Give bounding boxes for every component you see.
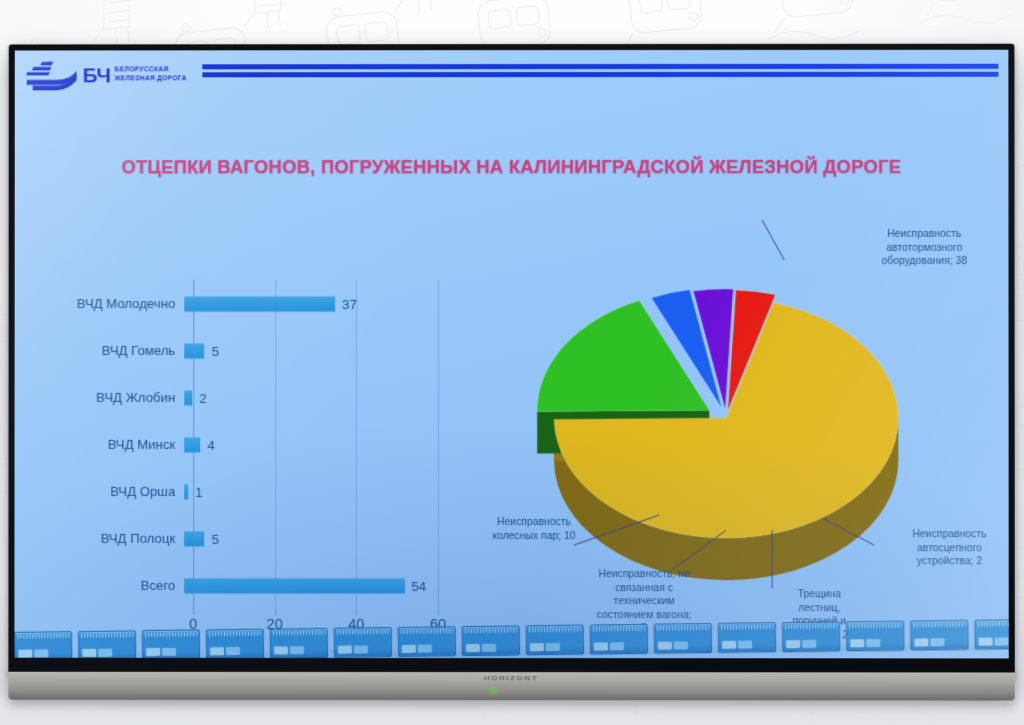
pie-slice-label: Неисправность автосцепного устройства; 2 [874, 528, 1008, 569]
bar-value-label: 5 [212, 343, 219, 358]
slide-title: ОТЦЕПКИ ВАГОНОВ, ПОГРУЖЕННЫХ НА КАЛИНИНГ… [15, 156, 1009, 178]
bar-value-label: 54 [411, 578, 426, 593]
bar-category-label: ВЧД Минск [32, 437, 184, 452]
monitor-bottom-bezel: HORIZONT [8, 672, 1014, 701]
bar [184, 484, 188, 499]
pie-chart: Неисправность автотормозного оборудовани… [454, 200, 1009, 659]
bar-category-label: Всего [32, 578, 184, 593]
taskbar-window-thumbnail[interactable] [782, 621, 840, 652]
pie-chart-graphic [454, 200, 1009, 659]
bar [184, 531, 204, 546]
taskbar-window-thumbnail[interactable] [590, 624, 648, 655]
bar-category-label: ВЧД Гомель [33, 343, 185, 358]
bar [184, 578, 404, 593]
bar-value-label: 37 [342, 296, 357, 311]
bar-chart: 0204060 ВЧД Молодечно37ВЧД Гомель5ВЧД Жл… [32, 280, 472, 640]
taskbar-window-thumbnail[interactable] [846, 621, 905, 652]
bar-category-label: ВЧД Жлобин [33, 390, 185, 405]
taskbar-window-thumbnail[interactable] [334, 627, 392, 658]
taskbar-window-thumbnail[interactable] [398, 626, 456, 657]
presentation-slide: БЧ БЕЛОРУССКАЯ ЖЕЛЕЗНАЯ ДОРОГА ОТЦЕПКИ В… [14, 50, 1008, 659]
taskbar-window-thumbnail[interactable] [654, 623, 712, 654]
bar-value-label: 2 [199, 390, 206, 405]
bar-track: 4 [184, 421, 472, 468]
taskbar-window-thumbnail[interactable] [270, 628, 328, 659]
belarusian-railway-logo-icon [27, 60, 79, 90]
bar-track: 37 [184, 280, 472, 327]
pie-slice-label: Неисправность колесных пар; 10 [460, 516, 608, 543]
bar [184, 296, 335, 311]
taskbar-window-thumbnail[interactable] [910, 620, 969, 651]
bar-chart-row: ВЧД Молодечно37 [33, 280, 472, 327]
taskbar-window-thumbnail[interactable] [206, 629, 264, 659]
pie-leader-line [762, 220, 784, 260]
bar-chart-row: Всего54 [32, 562, 472, 609]
taskbar-window-thumbnail[interactable] [974, 619, 1009, 650]
bar-track: 2 [184, 374, 472, 421]
bar-category-label: ВЧД Орша [32, 484, 184, 499]
taskbar-window-thumbnail[interactable] [462, 625, 520, 656]
photograph-of-monitor: БЧ БЕЛОРУССКАЯ ЖЕЛЕЗНАЯ ДОРОГА ОТЦЕПКИ В… [0, 0, 1024, 725]
logo-abbreviation: БЧ [83, 65, 111, 86]
header-decorative-bars [202, 64, 998, 81]
taskbar-window-thumbnail[interactable] [718, 622, 776, 653]
logo: БЧ БЕЛОРУССКАЯ ЖЕЛЕЗНАЯ ДОРОГА [27, 60, 187, 90]
header-bar-top [202, 64, 998, 70]
bar [184, 343, 204, 358]
bar-category-label: ВЧД Молодечно [33, 296, 185, 311]
bar [184, 437, 200, 452]
bar-value-label: 1 [195, 484, 202, 499]
logo-fullname: БЕЛОРУССКАЯ ЖЕЛЕЗНАЯ ДОРОГА [115, 66, 187, 84]
bar-value-label: 5 [212, 531, 219, 546]
bar-chart-row: ВЧД Орша1 [32, 468, 472, 515]
power-led-indicator [491, 689, 496, 692]
bar-chart-row: ВЧД Жлобин2 [33, 374, 472, 421]
logo-fullname-line1: БЕЛОРУССКАЯ [115, 66, 187, 75]
bar [184, 390, 192, 405]
bar-chart-row: ВЧД Гомель5 [33, 327, 472, 374]
taskbar-window-thumbnail[interactable] [78, 630, 136, 658]
pie-slice-label: Неисправность автотормозного оборудовани… [844, 228, 1004, 269]
monitor-screen: БЧ БЕЛОРУССКАЯ ЖЕЛЕЗНАЯ ДОРОГА ОТЦЕПКИ В… [14, 50, 1008, 659]
slide-header: БЧ БЕЛОРУССКАЯ ЖЕЛЕЗНАЯ ДОРОГА [15, 58, 1009, 95]
bar-track: 54 [184, 562, 472, 609]
taskbar-window-thumbnail[interactable] [142, 629, 200, 658]
bar-value-label: 4 [208, 437, 215, 452]
bar-chart-row: ВЧД Полоцк5 [32, 515, 472, 562]
monitor: БЧ БЕЛОРУССКАЯ ЖЕЛЕЗНАЯ ДОРОГА ОТЦЕПКИ В… [8, 44, 1014, 679]
monitor-brand-label: HORIZONT [484, 676, 538, 682]
logo-fullname-line2: ЖЕЛЕЗНАЯ ДОРОГА [115, 75, 187, 84]
bar-track: 5 [184, 515, 472, 562]
bar-track: 5 [184, 327, 472, 374]
taskbar-window-thumbnail[interactable] [14, 631, 72, 658]
axis-tick [193, 610, 194, 615]
bar-track: 1 [184, 468, 472, 515]
header-bar-bottom [202, 72, 998, 78]
taskbar-window-thumbnail[interactable] [526, 625, 584, 656]
bar-chart-row: ВЧД Минск4 [32, 421, 472, 468]
bar-category-label: ВЧД Полоцк [32, 531, 184, 546]
